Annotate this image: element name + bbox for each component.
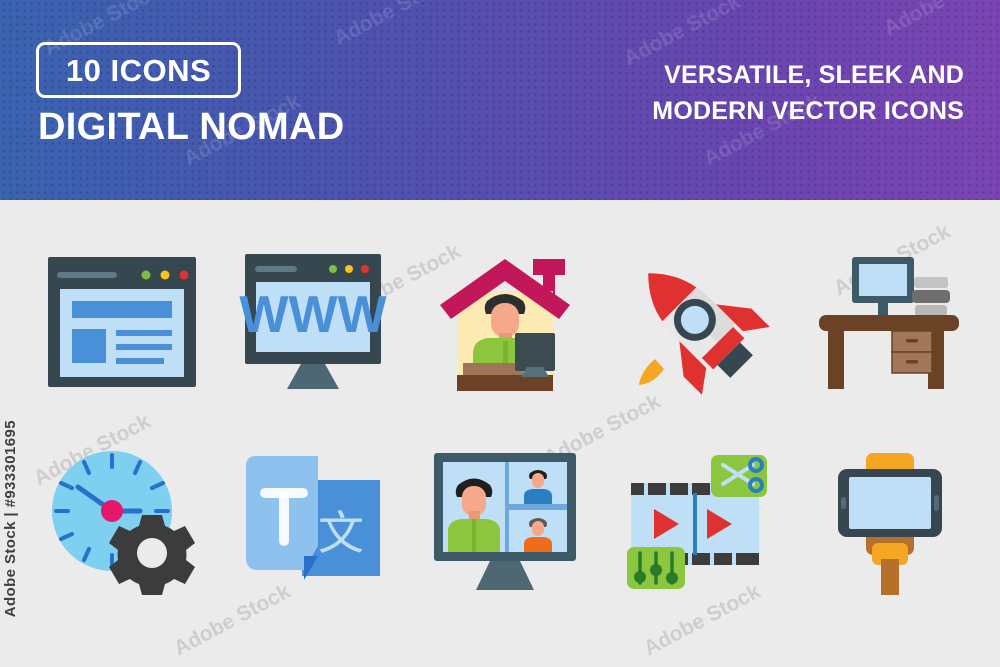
icon-www-monitor[interactable]: WWW (213, 222, 413, 422)
translation-glyph-cjk: 文 (318, 507, 364, 559)
icon-rocket[interactable] (597, 222, 797, 422)
icon-selfie-stick[interactable] (789, 422, 989, 622)
icon-translation[interactable]: 文 (213, 422, 413, 622)
icon-webpage[interactable] (22, 222, 222, 422)
icon-count-label: 10 ICONS (66, 55, 211, 86)
header-tagline: VERSATILE, SLEEK AND MODERN VECTOR ICONS (544, 58, 964, 129)
watermark-tile: Adobe Stock (330, 0, 455, 51)
poster-canvas: Adobe Stock Adobe Stock Adobe Stock Adob… (0, 0, 1000, 667)
icon-desk[interactable] (789, 222, 989, 422)
watermark-tile: Adobe Stock (880, 0, 1000, 41)
tagline-line-2: MODERN VECTOR ICONS (544, 94, 964, 130)
poster-header: Adobe Stock Adobe Stock Adobe Stock Adob… (0, 0, 1000, 200)
tagline-line-1: VERSATILE, SLEEK AND (544, 58, 964, 94)
icon-video-conference[interactable] (405, 422, 605, 622)
icon-work-from-home[interactable] (405, 222, 605, 422)
icon-video-editing[interactable] (597, 422, 797, 622)
page-title: DIGITAL NOMAD (38, 108, 344, 148)
www-label: WWW (239, 286, 387, 344)
icon-count-badge: 10 ICONS (36, 42, 241, 98)
icon-time-management[interactable] (22, 422, 222, 622)
icon-grid: WWW (0, 200, 1000, 667)
